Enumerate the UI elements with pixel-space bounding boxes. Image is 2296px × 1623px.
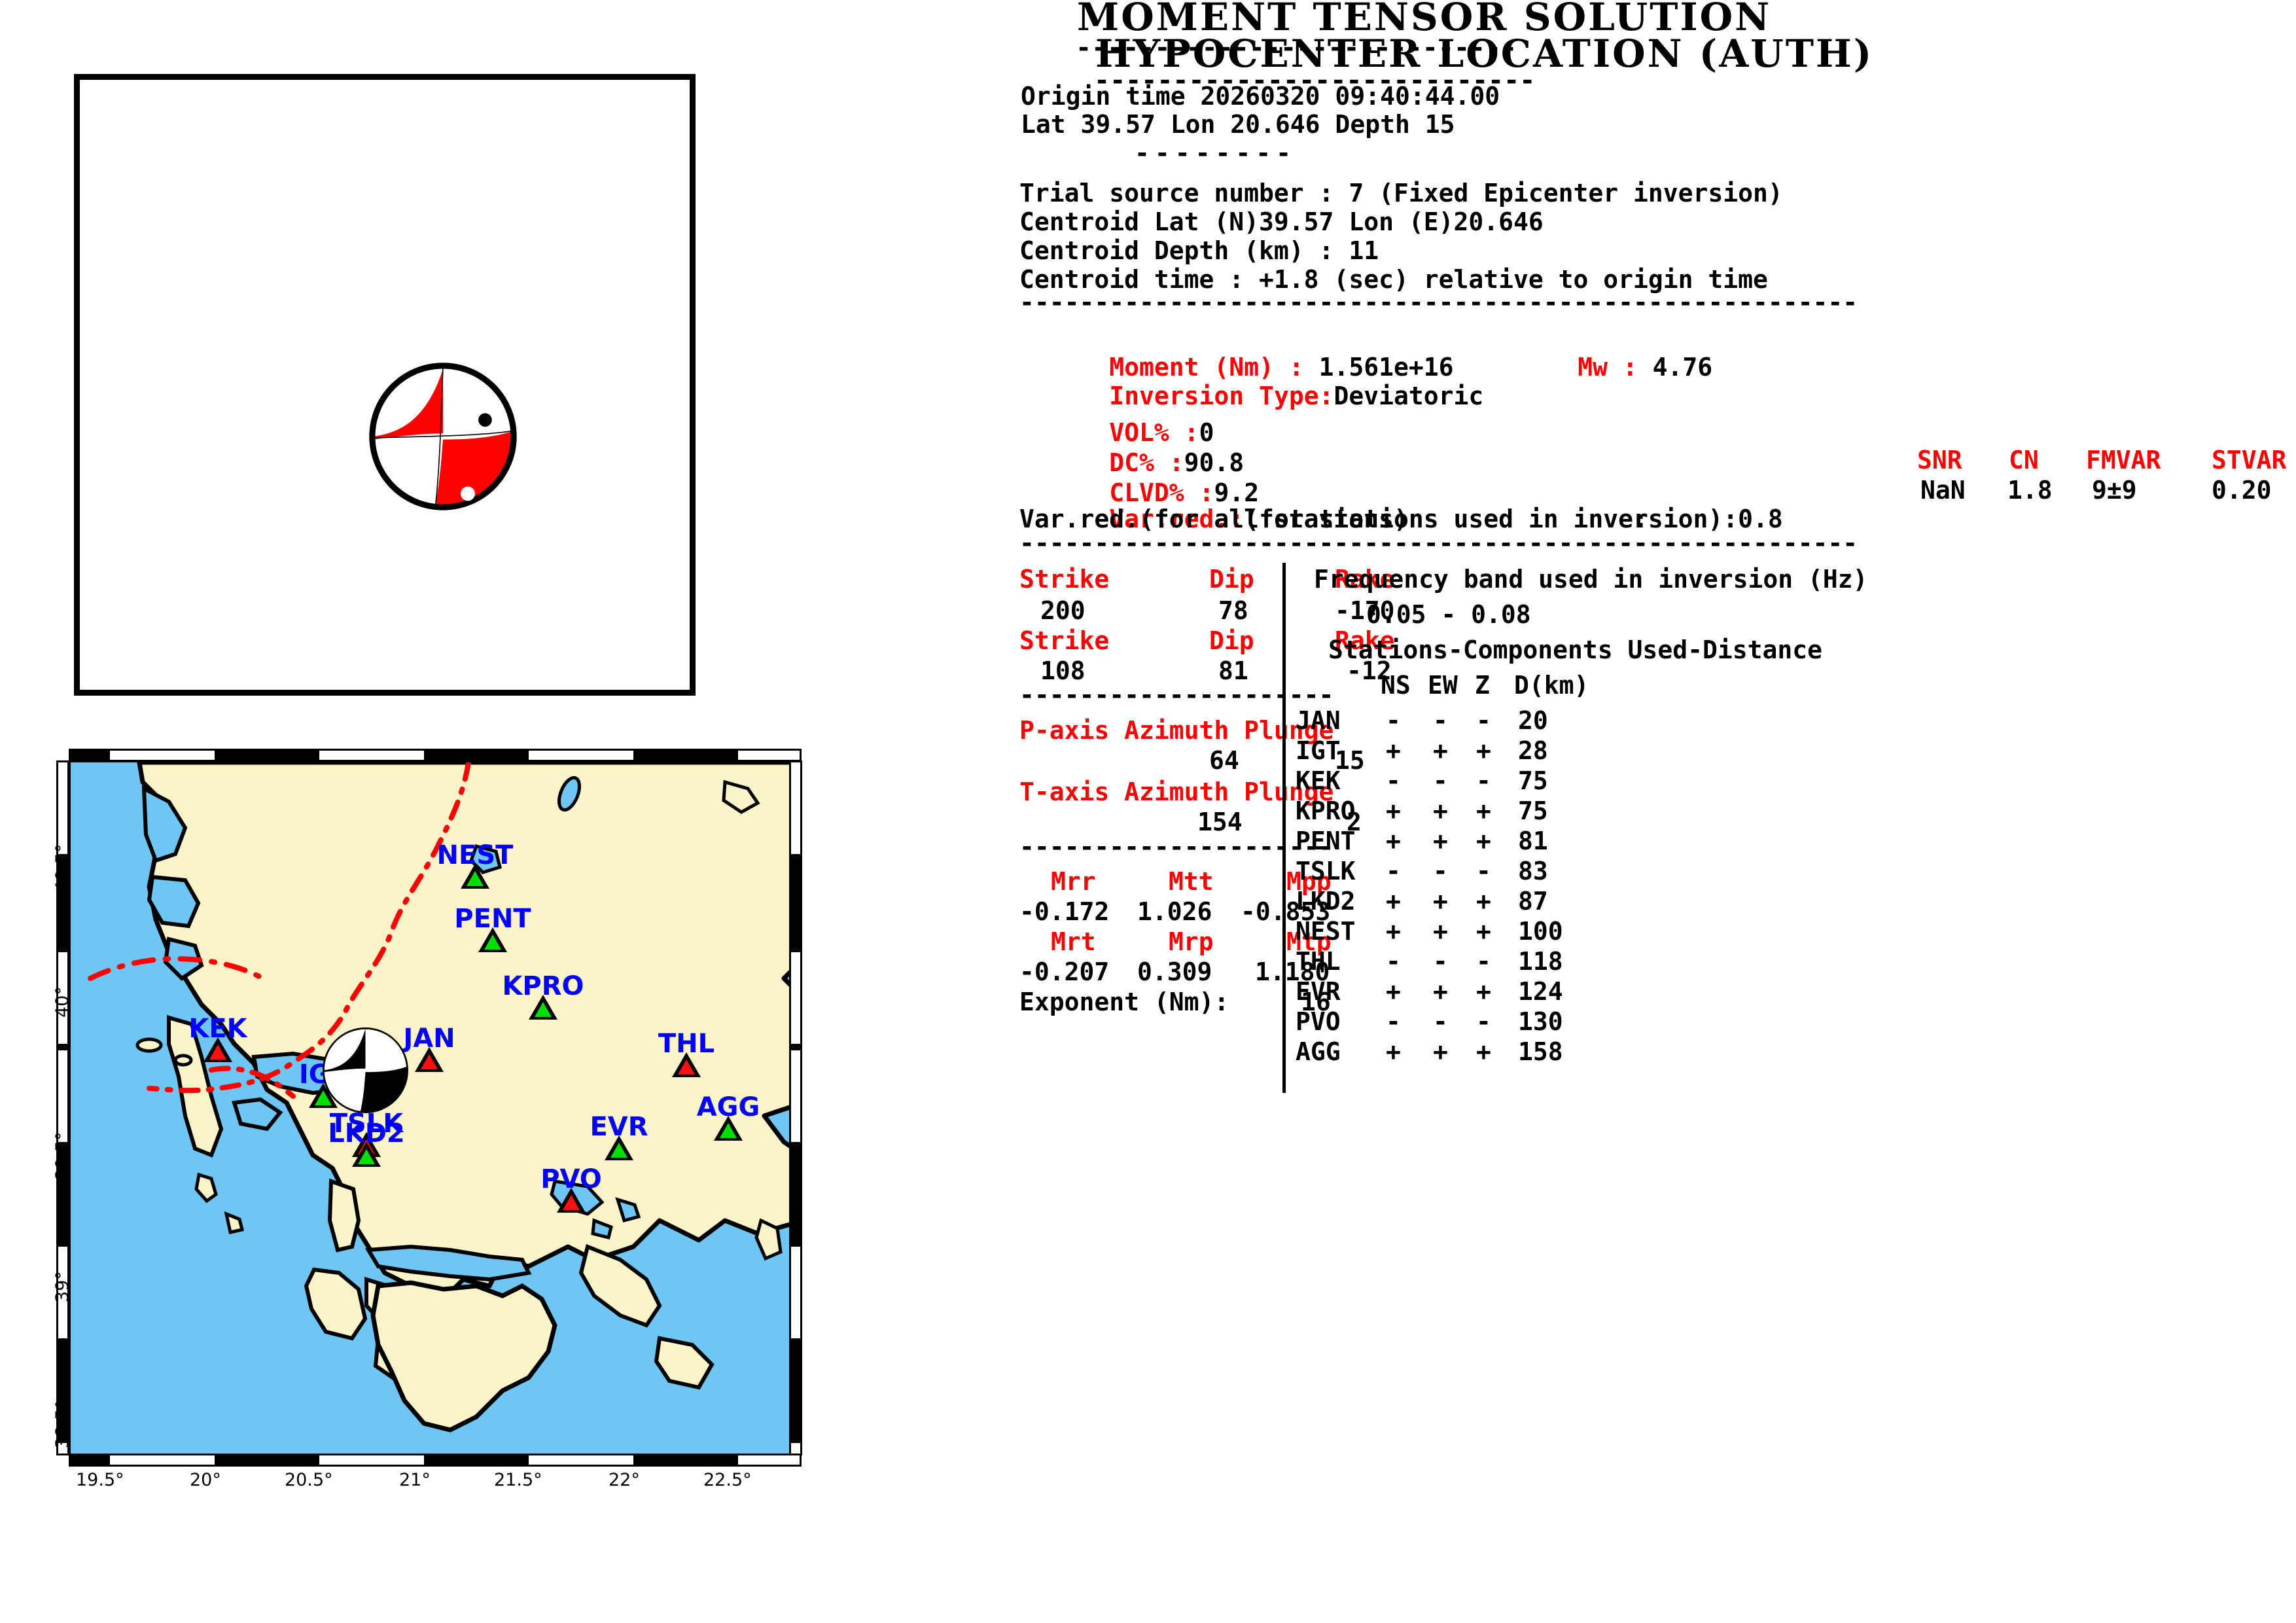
map-y-tick-2: 39.5° — [52, 1132, 73, 1180]
station-name: EVR — [1296, 977, 1341, 1006]
station-ns: + — [1386, 1037, 1401, 1066]
station-name: IGT — [1296, 736, 1341, 765]
stations-table-title: Stations-Components Used-Distance — [1328, 635, 1822, 664]
mrp-header: Mrp — [1169, 927, 1214, 956]
map-y-tick-3: 39° — [52, 1271, 73, 1302]
station-ns: - — [1386, 947, 1401, 976]
station-z: - — [1476, 947, 1491, 976]
station-label: LKD2 — [328, 1118, 405, 1149]
map-x-tick-5: 22° — [609, 1470, 640, 1490]
station-name: NEST — [1296, 917, 1356, 946]
station-marker-fill — [563, 1195, 580, 1210]
cn-value: 1.8 — [2007, 476, 2053, 505]
station-distance: 81 — [1518, 827, 1548, 855]
station-label: EVR — [590, 1112, 648, 1142]
map-x-tick-2: 20.5° — [285, 1470, 333, 1490]
station-name: LKD2 — [1296, 887, 1356, 916]
station-distance: 100 — [1518, 917, 1563, 946]
station-marker-fill — [720, 1123, 737, 1138]
plane1-dip-header: Dip — [1209, 565, 1254, 594]
station-ew: - — [1433, 857, 1448, 885]
station-name: PENT — [1296, 827, 1356, 855]
station-ew: - — [1433, 706, 1448, 735]
station-distance: 118 — [1518, 947, 1563, 976]
nodal-planes-rule: --------------------- — [1019, 681, 1333, 709]
station-name: KPRO — [1296, 796, 1356, 825]
compression-quadrant-lower-right — [436, 431, 516, 505]
map-compression-quadrant-lower-right — [360, 1066, 408, 1113]
col-header-ew: EW — [1428, 671, 1458, 700]
station-label: JAN — [403, 1024, 455, 1054]
hypocenter-line: Lat 39.57 Lon 20.646 Depth 15 — [1021, 110, 1455, 139]
station-marker-fill — [421, 1054, 438, 1069]
station-z: + — [1476, 827, 1491, 855]
map-axis-top — [69, 749, 802, 762]
exponent-label: Exponent (Nm): — [1019, 988, 1229, 1016]
cn-header: CN — [2009, 446, 2039, 474]
station-marker-fill — [678, 1060, 695, 1075]
station-ew: + — [1433, 736, 1448, 765]
station-z: + — [1476, 1037, 1491, 1066]
station-label: KEK — [188, 1014, 247, 1044]
fmvar-value: 9±9 — [2092, 476, 2137, 505]
station-distance: 83 — [1518, 857, 1548, 885]
t-axis-header: T-axis Azimuth Plunge — [1019, 777, 1333, 806]
stations-panel-divider — [1282, 563, 1286, 1093]
mtt-header: Mtt — [1169, 867, 1214, 896]
map-x-tick-4: 21.5° — [494, 1470, 542, 1490]
station-ew: + — [1433, 887, 1448, 916]
station-z: + — [1476, 796, 1491, 825]
station-ns: + — [1386, 887, 1401, 916]
centroid-rule: ----------------------------------------… — [1019, 288, 1858, 317]
centroid-depth-line: Centroid Depth (km) : 11 — [1019, 236, 1379, 265]
short-rule: -------- — [1135, 139, 1296, 168]
frequency-band-value: 0.05 - 0.08 — [1366, 600, 1531, 629]
solution-rule: ----------------------------------------… — [1019, 529, 1858, 558]
station-ns: + — [1386, 977, 1401, 1006]
map-axis-right — [789, 760, 802, 1455]
mw-label: Mw : — [1578, 353, 1652, 382]
p-axis-header: P-axis Azimuth Plunge — [1019, 716, 1333, 745]
map-frame[interactable]: NEST PENT KPRO KEK JAN — [69, 760, 802, 1455]
station-marker-fill — [358, 1149, 375, 1164]
station-ew: + — [1433, 917, 1448, 946]
p-axis-azimuth: 64 — [1209, 746, 1239, 775]
map-y-tick-0: 40.5° — [52, 844, 73, 892]
station-ns: + — [1386, 796, 1401, 825]
map-x-tick-1: 20° — [190, 1470, 221, 1490]
station-z: - — [1476, 766, 1491, 795]
inversion-type-value: Deviatoric — [1333, 382, 1483, 410]
map-y-tick-4: 38.5° — [52, 1400, 73, 1448]
plane2-strike-header: Strike — [1019, 626, 1109, 655]
mw-row: Mw : 4.76 — [1488, 324, 1712, 410]
station-name: AGG — [1296, 1037, 1341, 1066]
frequency-band-title: Frequency band used in inversion (Hz) — [1314, 565, 1867, 594]
station-label: PVO — [540, 1164, 602, 1194]
t-axis-dot — [478, 413, 492, 427]
station-label: KPRO — [502, 971, 584, 1001]
station-label: PENT — [454, 904, 531, 934]
station-label: THL — [658, 1029, 715, 1059]
centroid-latlon-line: Centroid Lat (N)39.57 Lon (E)20.646 — [1019, 207, 1544, 236]
station-ns: + — [1386, 827, 1401, 855]
map-graphic — [71, 762, 802, 1455]
station-distance: 158 — [1518, 1037, 1563, 1066]
station-ns: - — [1386, 1007, 1401, 1036]
station-name: TSLK — [1296, 857, 1356, 885]
station-distance: 124 — [1518, 977, 1563, 1006]
stvar-value: 0.20 — [2212, 476, 2272, 505]
epicenter-map-panel: NEST PENT KPRO KEK JAN — [33, 751, 802, 1478]
station-name: KEK — [1296, 766, 1341, 795]
mrr-header: Mrr — [1051, 867, 1096, 896]
station-ns: - — [1386, 706, 1401, 735]
station-ew: + — [1433, 827, 1448, 855]
station-z: - — [1476, 706, 1491, 735]
station-ew: - — [1433, 1007, 1448, 1036]
station-distance: 75 — [1518, 796, 1548, 825]
mrp-value: 0.309 — [1137, 957, 1212, 986]
station-label: NEST — [437, 840, 514, 870]
station-ew: + — [1433, 796, 1448, 825]
axes-rule: --------------------- — [1019, 832, 1333, 861]
p-axis-dot — [461, 487, 475, 501]
station-distance: 28 — [1518, 736, 1548, 765]
col-header-ns: NS — [1381, 671, 1411, 700]
station-z: - — [1476, 857, 1491, 885]
station-distance: 87 — [1518, 887, 1548, 916]
plane2-dip-header: Dip — [1209, 626, 1254, 655]
station-marker-fill — [209, 1044, 226, 1060]
station-name: JAN — [1296, 706, 1341, 735]
station-ns: + — [1386, 736, 1401, 765]
map-x-tick-6: 22.5° — [703, 1470, 752, 1490]
trial-source-line: Trial source number : 7 (Fixed Epicenter… — [1019, 179, 1783, 207]
map-y-tick-1: 40° — [52, 986, 73, 1018]
moment-tensor-report: MOMENT TENSOR SOLUTION -----------------… — [811, 0, 2290, 1623]
station-distance: 20 — [1518, 706, 1548, 735]
map-x-tick-0: 19.5° — [76, 1470, 124, 1490]
station-ew: - — [1433, 947, 1448, 976]
mrt-header: Mrt — [1051, 927, 1096, 956]
mrr-value: -0.172 — [1019, 897, 1109, 926]
station-distance: 75 — [1518, 766, 1548, 795]
station-z: + — [1476, 887, 1491, 916]
snr-value: NaN — [1920, 476, 1966, 505]
map-x-tick-3: 21° — [399, 1470, 431, 1490]
station-ns: + — [1386, 917, 1401, 946]
station-marker-fill — [535, 1002, 552, 1017]
station-ns: - — [1386, 766, 1401, 795]
station-z: - — [1476, 1007, 1491, 1036]
station-distance: 130 — [1518, 1007, 1563, 1036]
station-ew: + — [1433, 1037, 1448, 1066]
focal-mechanism-panel — [74, 74, 696, 696]
station-label: AGG — [697, 1092, 760, 1122]
col-header-distance: D(km) — [1514, 671, 1589, 700]
station-ew: - — [1433, 766, 1448, 795]
map-epicenter-beachball — [321, 1026, 410, 1115]
station-ew: + — [1433, 977, 1448, 1006]
station-name: PVO — [1296, 1007, 1341, 1036]
station-marker-fill — [610, 1143, 627, 1158]
station-z: + — [1476, 917, 1491, 946]
station-ns: - — [1386, 857, 1401, 885]
station-z: + — [1476, 736, 1491, 765]
stvar-header: STVAR — [2212, 446, 2286, 474]
fmvar-header: FMVAR — [2086, 446, 2161, 474]
station-z: + — [1476, 977, 1491, 1006]
station-marker-fill — [484, 935, 501, 950]
col-header-z: Z — [1475, 671, 1490, 700]
mw-value: 4.76 — [1653, 353, 1713, 382]
plane1-dip: 78 — [1218, 596, 1248, 625]
map-axis-bottom — [69, 1454, 802, 1467]
station-name: THL — [1296, 947, 1341, 976]
snr-header: SNR — [1917, 446, 1962, 474]
plane1-strike-header: Strike — [1019, 565, 1109, 594]
mrt-value: -0.207 — [1019, 957, 1109, 986]
origin-time-line: Origin time 20260320 09:40:44.00 — [1021, 82, 1500, 111]
plane1-strike: 200 — [1040, 596, 1086, 625]
focal-mechanism-beachball — [368, 361, 518, 512]
station-marker-fill — [467, 871, 484, 886]
mtt-value: 1.026 — [1137, 897, 1212, 926]
